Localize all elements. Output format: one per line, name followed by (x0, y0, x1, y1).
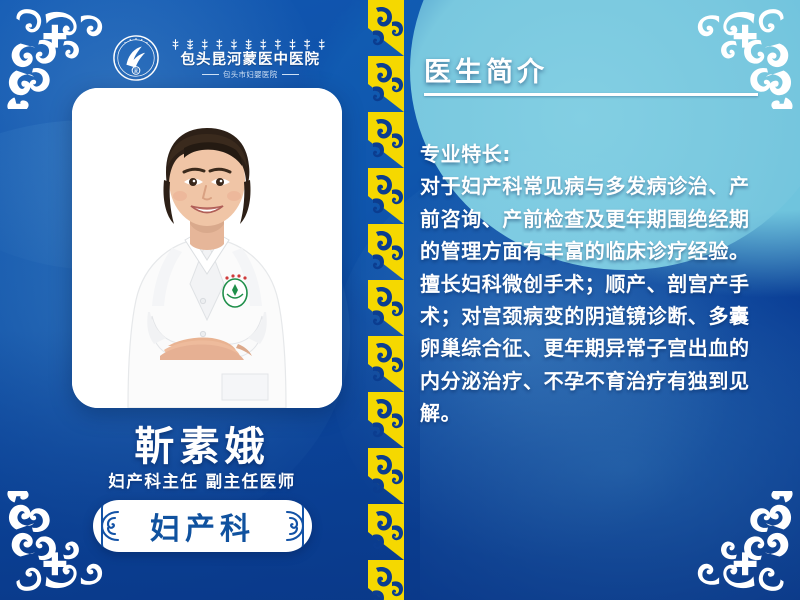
corner-scroll-ornament-icon (6, 490, 110, 594)
department-name: 妇产科 (150, 504, 255, 548)
hospital-logo: 蒙 (112, 34, 332, 82)
subtitle-rule-right (282, 74, 299, 75)
hospital-name-cn: 包头昆河蒙医中医院 (181, 53, 321, 68)
plaque-scroll-ornament-icon (98, 509, 124, 543)
hospital-subtitle: 包头市妇婴医院 (202, 71, 299, 79)
hospital-emblem-icon: 蒙 (112, 34, 160, 82)
mongolian-zigzag-band (362, 0, 408, 600)
corner-scroll-ornament-icon (690, 490, 794, 594)
doctor-photo-card (72, 88, 342, 408)
doctor-portrait (72, 88, 342, 408)
doctor-titles: 妇产科主任 副主任医师 (0, 468, 404, 492)
specialty-body: 对于妇产科常见病与多发病诊治、产前咨询、产前检查及更年期围绝经期的管理方面有丰富… (420, 174, 750, 425)
mongolian-script-icon (169, 38, 332, 51)
svg-text:蒙: 蒙 (134, 67, 139, 74)
doctor-bio: 专业特长: 对于妇产科常见病与多发病诊治、产前咨询、产前检查及更年期围绝经期的管… (420, 138, 768, 430)
doctor-name: 靳素娥 (0, 414, 404, 472)
doctor-profile-poster: 蒙 (0, 0, 800, 600)
department-plaque: 妇产科 (93, 500, 312, 552)
hospital-subtitle-text: 包头市妇婴医院 (223, 71, 278, 79)
page-title: 医生简介 (424, 50, 548, 89)
hospital-name-block: 包头昆河蒙医中医院 包头市妇婴医院 (169, 38, 332, 78)
title-divider (424, 93, 758, 96)
specialty-label: 专业特长: (420, 138, 768, 170)
plaque-scroll-ornament-icon (281, 509, 307, 543)
subtitle-rule-left (202, 74, 219, 75)
